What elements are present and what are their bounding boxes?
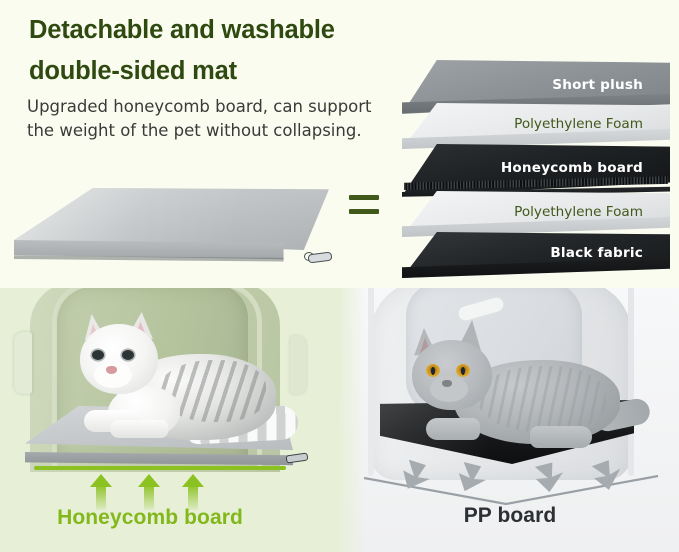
up-arrow-icon (182, 474, 204, 510)
layer-label: Short plush (552, 77, 643, 93)
comparison-panel-pp: PP board (340, 288, 679, 552)
zipper-icon (304, 250, 334, 264)
cat-paw-rear (110, 420, 168, 438)
cat-white-tabby (62, 312, 297, 457)
down-arrow-icon (455, 462, 489, 496)
layer-polyethylene-foam-bottom: Polyethylene Foam (402, 191, 670, 237)
label-honeycomb-board: Honeycomb board (0, 506, 300, 530)
infographic-page: Detachable and washable double-sided mat… (0, 0, 679, 552)
layer-label: Black fabric (550, 245, 643, 261)
flat-support-line (34, 466, 286, 470)
comparison-panel-honeycomb: Honeycomb board (0, 288, 340, 552)
cat-fur-pattern (478, 366, 606, 432)
equals-icon (349, 195, 379, 221)
carrier-handle-left (14, 332, 32, 394)
up-arrow-icon (90, 474, 112, 510)
subtitle-text: Upgraded honeycomb board, can support th… (27, 95, 379, 143)
layer-honeycomb-board: Honeycomb board (402, 144, 670, 196)
layer-polyethylene-foam-top: Polyethylene Foam (402, 103, 670, 149)
heading-line-1: Detachable and washable (27, 18, 337, 46)
carrier-rim-left (368, 288, 374, 476)
comparison-section: Honeycomb board (0, 288, 679, 552)
cat-paw-front (426, 418, 480, 440)
up-arrow-icon (138, 474, 160, 510)
cat-nose (442, 380, 452, 387)
layer-label: Polyethylene Foam (514, 204, 643, 220)
layer-label: Honeycomb board (501, 160, 643, 176)
layer-label: Polyethylene Foam (514, 116, 643, 132)
layer-stack-diagram: Short plush Polyethylene Foam Honeycomb … (402, 60, 670, 270)
cat-grey (398, 314, 648, 464)
cat-nose (106, 366, 117, 374)
layer-black-fabric: Black fabric (402, 232, 670, 278)
product-mat-image (14, 188, 329, 273)
heading-line-2: double-sided mat (27, 59, 239, 87)
page-title: Detachable and washable double-sided mat (27, 18, 407, 86)
label-pp-board: PP board (380, 504, 640, 528)
cat-eye-left (92, 350, 104, 360)
down-arrow-icon (533, 461, 567, 495)
mat-side-edge (14, 240, 307, 266)
cat-paw-rear (530, 426, 592, 448)
top-section: Detachable and washable double-sided mat… (0, 0, 679, 288)
cat-eye-right (122, 350, 134, 360)
